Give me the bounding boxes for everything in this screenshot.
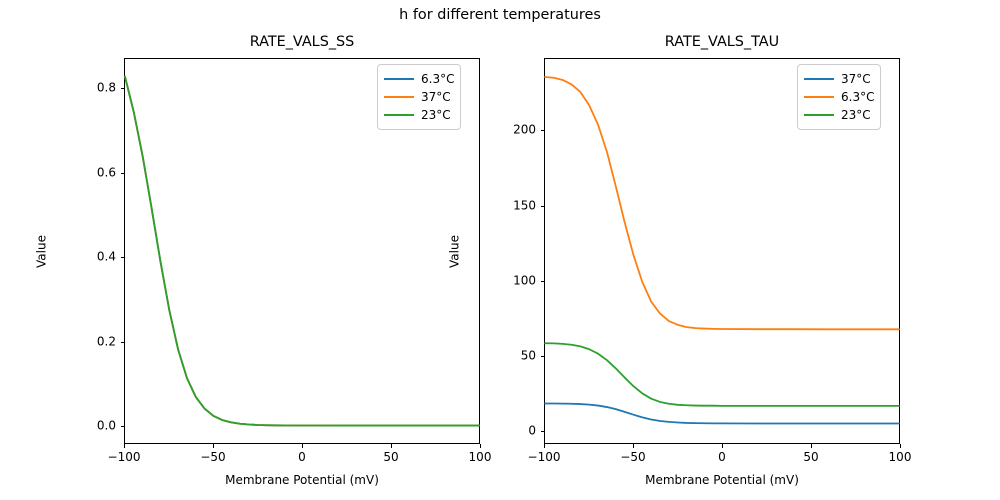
xlabel-right: Membrane Potential (mV) <box>544 473 900 488</box>
legend-item[interactable]: 23°C <box>384 106 454 124</box>
legend-right[interactable]: 37°C6.3°C23°C <box>797 64 881 130</box>
y-tick-label: 0.8 <box>52 82 116 95</box>
x-tick-label: −50 <box>200 451 225 464</box>
y-tick-label: 0 <box>472 425 536 438</box>
ylabel-right: Value <box>448 177 463 327</box>
legend-color-swatch <box>804 78 834 80</box>
legend-item[interactable]: 6.3°C <box>384 70 454 88</box>
legend-label: 23°C <box>421 108 451 122</box>
legend-item[interactable]: 37°C <box>804 70 874 88</box>
x-tick-mark <box>900 444 901 448</box>
legend-left[interactable]: 6.3°C37°C23°C <box>377 64 461 130</box>
ylabel-left: Value <box>35 177 50 327</box>
legend-label: 6.3°C <box>421 72 454 86</box>
y-tick-label: 200 <box>472 124 536 137</box>
x-tick-label: −100 <box>528 451 561 464</box>
axes-title-left: RATE_VALS_SS <box>125 33 479 51</box>
x-tick-label: 0 <box>718 451 726 464</box>
y-tick-mark <box>121 257 125 258</box>
y-tick-mark <box>541 281 545 282</box>
legend-color-swatch <box>384 96 414 98</box>
x-tick-mark <box>544 444 545 448</box>
y-tick-label: 100 <box>472 274 536 287</box>
y-tick-label: 150 <box>472 199 536 212</box>
legend-label: 6.3°C <box>841 90 874 104</box>
xlabel-left: Membrane Potential (mV) <box>124 473 480 488</box>
y-tick-mark <box>541 356 545 357</box>
y-tick-label: 0.0 <box>52 420 116 433</box>
x-tick-label: −100 <box>108 451 141 464</box>
legend-label: 37°C <box>421 90 451 104</box>
legend-color-swatch <box>384 78 414 80</box>
y-tick-mark <box>121 426 125 427</box>
legend-color-swatch <box>804 96 834 98</box>
x-tick-label: 50 <box>383 451 398 464</box>
axes-title-right: RATE_VALS_TAU <box>545 33 899 51</box>
x-tick-mark <box>302 444 303 448</box>
x-tick-mark <box>811 444 812 448</box>
legend-label: 37°C <box>841 72 871 86</box>
x-tick-mark <box>722 444 723 448</box>
x-tick-label: 100 <box>469 451 492 464</box>
legend-item[interactable]: 6.3°C <box>804 88 874 106</box>
x-tick-label: 50 <box>803 451 818 464</box>
series-line <box>545 343 899 406</box>
y-tick-label: 0.2 <box>52 335 116 348</box>
matplotlib-figure: h for different temperatures RATE_VALS_S… <box>0 0 1000 500</box>
x-tick-label: −50 <box>620 451 645 464</box>
x-tick-label: 0 <box>298 451 306 464</box>
legend-color-swatch <box>804 114 834 116</box>
y-tick-mark <box>541 431 545 432</box>
legend-item[interactable]: 37°C <box>384 88 454 106</box>
figure-suptitle: h for different temperatures <box>0 6 1000 24</box>
y-tick-mark <box>121 88 125 89</box>
x-tick-label: 100 <box>889 451 912 464</box>
y-tick-mark <box>121 342 125 343</box>
y-tick-label: 0.4 <box>52 251 116 264</box>
legend-label: 23°C <box>841 108 871 122</box>
y-tick-mark <box>541 206 545 207</box>
y-tick-mark <box>121 173 125 174</box>
x-tick-mark <box>480 444 481 448</box>
x-tick-mark <box>124 444 125 448</box>
x-tick-mark <box>633 444 634 448</box>
x-tick-mark <box>213 444 214 448</box>
legend-color-swatch <box>384 114 414 116</box>
y-tick-label: 50 <box>472 350 536 363</box>
legend-item[interactable]: 23°C <box>804 106 874 124</box>
y-tick-label: 0.6 <box>52 166 116 179</box>
x-tick-mark <box>391 444 392 448</box>
y-tick-mark <box>541 130 545 131</box>
